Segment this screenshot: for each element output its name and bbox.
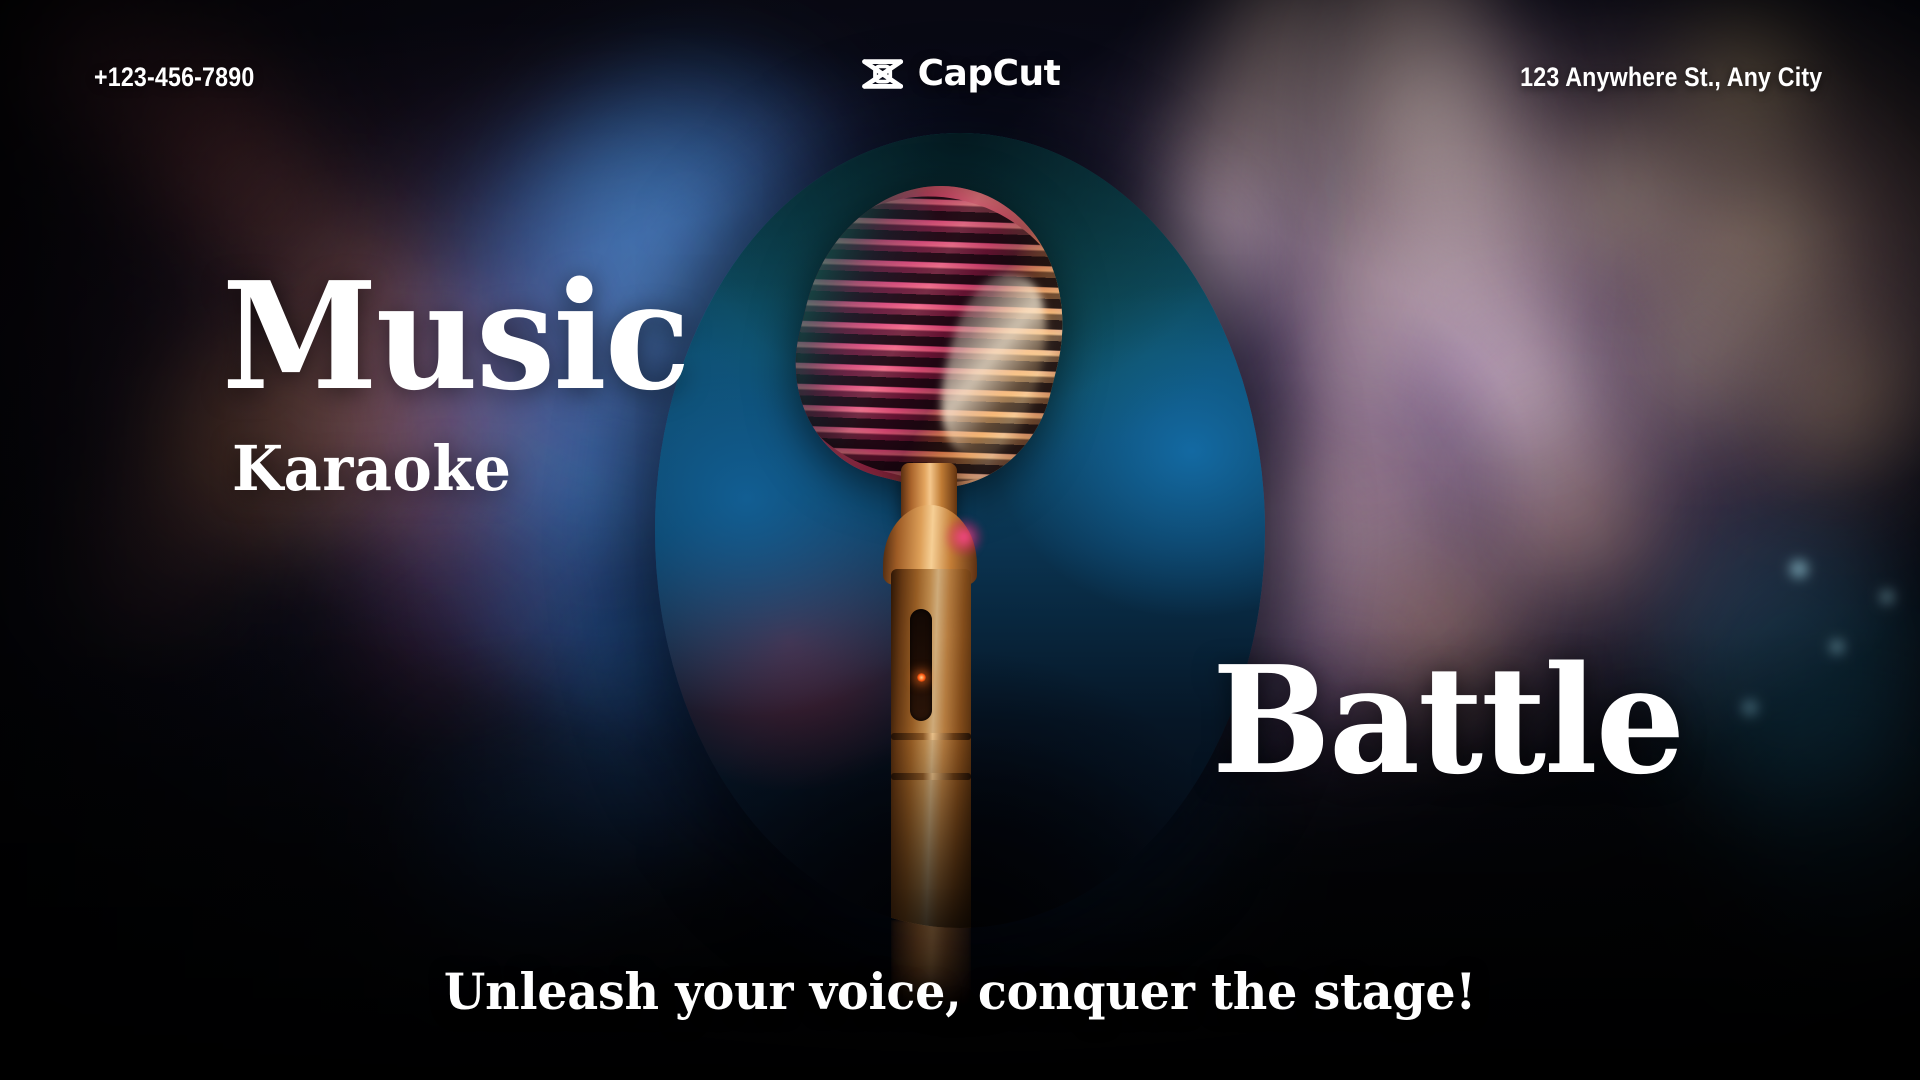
microphone-ring <box>891 733 971 740</box>
capcut-logo-icon <box>860 55 906 93</box>
microphone-head <box>771 158 1094 512</box>
headline-karaoke: Karaoke <box>232 440 511 497</box>
poster-canvas: +123-456-7890 CapCut 123 Anywhere St., A… <box>0 0 1920 1080</box>
tagline-text: Unleash your voice, conquer the stage! <box>444 962 1476 1021</box>
microphone-ring <box>891 773 971 780</box>
microphone-icon <box>655 133 1265 928</box>
headline-music: Music <box>222 268 689 404</box>
microphone-pink-glow <box>943 517 985 557</box>
capcut-wordmark: CapCut <box>918 56 1061 92</box>
capcut-brand-lockup: CapCut <box>860 55 1061 93</box>
headline-battle: Battle <box>1212 652 1683 788</box>
phone-number: +123-456-7890 <box>94 62 254 93</box>
arch-photo-frame <box>655 133 1265 928</box>
microphone-switch-slot <box>910 609 932 721</box>
microphone-led-indicator <box>917 673 926 682</box>
address-text: 123 Anywhere St., Any City <box>1520 62 1822 93</box>
